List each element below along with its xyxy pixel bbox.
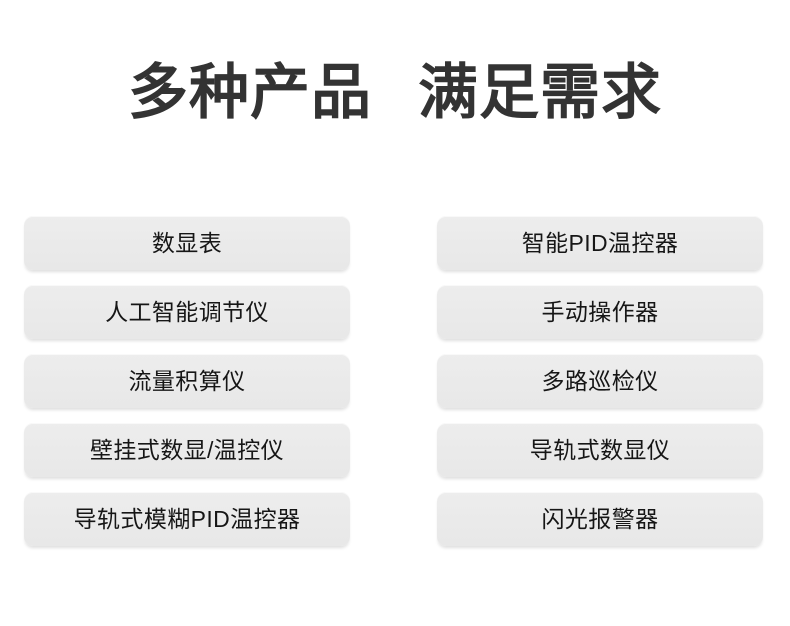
product-category-card[interactable]: 导轨式模糊PID温控器 bbox=[24, 492, 350, 546]
product-category-card[interactable]: 智能PID温控器 bbox=[437, 216, 763, 270]
product-category-label: 手动操作器 bbox=[542, 299, 659, 325]
product-category-label: 数显表 bbox=[152, 230, 222, 256]
product-category-label: 导轨式模糊PID温控器 bbox=[74, 506, 301, 532]
product-category-poster: 多种产品满足需求 数显表 智能PID温控器 人工智能调节仪 手动操作器 流量积算… bbox=[0, 0, 790, 626]
product-category-label: 流量积算仪 bbox=[129, 368, 246, 394]
product-category-card[interactable]: 流量积算仪 bbox=[24, 354, 350, 408]
product-category-card[interactable]: 手动操作器 bbox=[437, 285, 763, 339]
page-title-part-two: 满足需求 bbox=[418, 56, 662, 130]
product-category-label: 导轨式数显仪 bbox=[530, 437, 670, 463]
product-category-card[interactable]: 多路巡检仪 bbox=[437, 354, 763, 408]
product-category-label: 闪光报警器 bbox=[542, 506, 659, 532]
product-category-label: 壁挂式数显/温控仪 bbox=[90, 437, 284, 463]
product-category-card[interactable]: 闪光报警器 bbox=[437, 492, 763, 546]
product-category-label: 多路巡检仪 bbox=[542, 368, 659, 394]
product-category-label: 人工智能调节仪 bbox=[105, 299, 269, 325]
page-title-part-one: 多种产品 bbox=[128, 56, 372, 130]
product-category-label: 智能PID温控器 bbox=[522, 230, 679, 256]
product-category-card[interactable]: 壁挂式数显/温控仪 bbox=[24, 423, 350, 477]
product-category-grid: 数显表 智能PID温控器 人工智能调节仪 手动操作器 流量积算仪 多路巡检仪 壁… bbox=[24, 216, 763, 546]
product-category-card[interactable]: 数显表 bbox=[24, 216, 350, 270]
page-title: 多种产品满足需求 bbox=[0, 56, 790, 130]
product-category-card[interactable]: 导轨式数显仪 bbox=[437, 423, 763, 477]
product-category-card[interactable]: 人工智能调节仪 bbox=[24, 285, 350, 339]
